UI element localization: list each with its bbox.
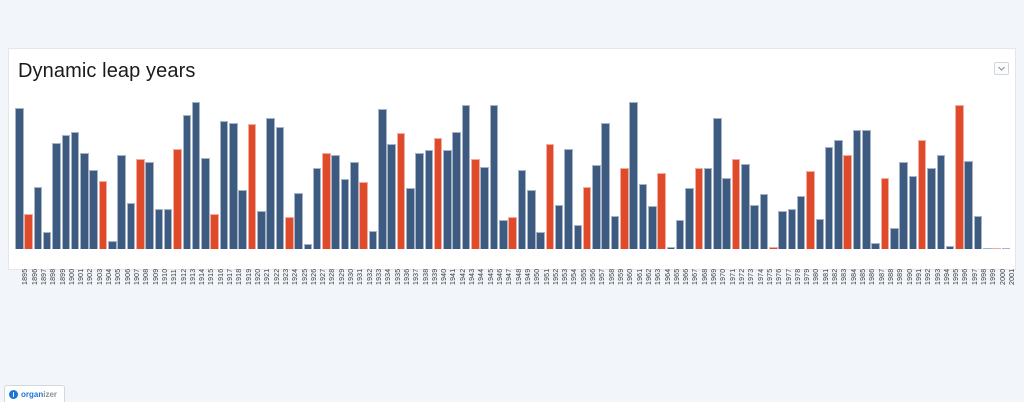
x-axis-label-1923: 1923 <box>283 269 290 285</box>
bar-1905[interactable] <box>108 241 117 249</box>
x-axis-label-1898: 1898 <box>50 269 57 285</box>
x-axis-label-1913: 1913 <box>190 269 197 285</box>
bar-1969[interactable] <box>704 168 713 249</box>
bar-1960[interactable] <box>620 168 629 249</box>
chevron-down-icon <box>998 66 1005 71</box>
x-axis-label-1921: 1921 <box>264 269 271 285</box>
bar-1921[interactable] <box>257 211 266 249</box>
x-axis-label-1985: 1985 <box>860 269 867 285</box>
x-axis-label-1957: 1957 <box>599 269 606 285</box>
x-axis-label-1905: 1905 <box>115 269 122 285</box>
x-axis-label-1922: 1922 <box>274 269 281 285</box>
x-axis-label-1902: 1902 <box>87 269 94 285</box>
x-axis-label-1926: 1926 <box>311 269 318 285</box>
x-axis-label-1981: 1981 <box>823 269 830 285</box>
x-axis-label-1934: 1934 <box>385 269 392 285</box>
x-axis-label-2000: 2000 <box>1000 269 1007 285</box>
bar-1974[interactable] <box>750 205 759 249</box>
bar-1944[interactable] <box>471 159 480 249</box>
bar-1931[interactable] <box>350 162 359 249</box>
bar-1996[interactable] <box>955 105 964 249</box>
bar-1926[interactable] <box>304 244 313 249</box>
x-axis-label-1960: 1960 <box>627 269 634 285</box>
page-title: Dynamic leap years <box>18 59 195 83</box>
bar-1958[interactable] <box>601 123 610 249</box>
bar-1917[interactable] <box>220 121 229 249</box>
x-axis-label-1919: 1919 <box>246 269 253 285</box>
x-axis-label-1895: 1895 <box>22 269 29 285</box>
x-axis-label-1999: 1999 <box>990 269 997 285</box>
bar-1964[interactable] <box>657 173 666 249</box>
bar-1984[interactable] <box>843 155 852 249</box>
x-axis-label-1930: 1930 <box>348 269 355 285</box>
x-axis-label-1983: 1983 <box>841 269 848 285</box>
x-axis-label-1979: 1979 <box>804 269 811 285</box>
bar-1946[interactable] <box>490 105 499 249</box>
organizer-badge-label-secondary: izer <box>43 390 57 399</box>
x-axis-label-1931: 1931 <box>357 269 364 285</box>
x-axis-label-1951: 1951 <box>544 269 551 285</box>
x-axis-label-1916: 1916 <box>218 269 225 285</box>
x-axis-label-1910: 1910 <box>162 269 169 285</box>
x-axis-label-1920: 1920 <box>255 269 262 285</box>
bar-1913[interactable] <box>183 115 192 249</box>
bar-1896[interactable] <box>24 214 33 249</box>
x-axis-label-1946: 1946 <box>497 269 504 285</box>
bar-1919[interactable] <box>238 190 247 249</box>
bar-1927[interactable] <box>313 168 322 249</box>
x-axis-label-1906: 1906 <box>125 269 132 285</box>
bar-1997[interactable] <box>964 161 973 249</box>
bar-1994[interactable] <box>937 155 946 249</box>
bar-1939[interactable] <box>425 150 434 249</box>
bar-1925[interactable] <box>294 193 303 249</box>
x-axis-label-1948: 1948 <box>516 269 523 285</box>
bar-1897[interactable] <box>34 187 43 249</box>
x-axis-label-1933: 1933 <box>376 269 383 285</box>
bar-1982[interactable] <box>825 147 834 249</box>
organizer-badge-label-primary: organ <box>21 390 43 399</box>
bar-1945[interactable] <box>480 167 489 249</box>
bar-1930[interactable] <box>341 179 350 249</box>
x-axis-label-1907: 1907 <box>134 269 141 285</box>
x-axis-label-1984: 1984 <box>851 269 858 285</box>
bar-1950[interactable] <box>527 190 536 249</box>
bar-1932[interactable] <box>359 182 368 249</box>
x-axis-label-1938: 1938 <box>423 269 430 285</box>
x-axis-label-1927: 1927 <box>320 269 327 285</box>
bar-1998[interactable] <box>974 216 983 249</box>
bar-1975[interactable] <box>760 194 769 249</box>
bar-1979[interactable] <box>797 196 806 249</box>
x-axis-label-1932: 1932 <box>367 269 374 285</box>
bar-1986[interactable] <box>862 130 871 249</box>
bar-1968[interactable] <box>695 168 704 249</box>
x-axis-label-1918: 1918 <box>236 269 243 285</box>
bar-1988[interactable] <box>881 178 890 249</box>
bar-1920[interactable] <box>248 124 257 249</box>
bar-1918[interactable] <box>229 123 238 249</box>
bar-1907[interactable] <box>127 203 136 249</box>
bar-1908[interactable] <box>136 159 145 249</box>
x-axis-label-1998: 1998 <box>981 269 988 285</box>
x-axis-label-1928: 1928 <box>329 269 336 285</box>
bar-1910[interactable] <box>155 209 164 249</box>
bar-1933[interactable] <box>369 231 378 249</box>
x-axis-label-1996: 1996 <box>962 269 969 285</box>
bar-1961[interactable] <box>629 102 638 249</box>
x-axis-label-1912: 1912 <box>181 269 188 285</box>
bar-1955[interactable] <box>574 225 583 249</box>
bar-1978[interactable] <box>788 209 797 249</box>
x-axis-label-1939: 1939 <box>432 269 439 285</box>
x-axis-label-1904: 1904 <box>106 269 113 285</box>
x-axis-label-1914: 1914 <box>199 269 206 285</box>
bar-1991[interactable] <box>909 176 918 249</box>
x-axis-label-1935: 1935 <box>395 269 402 285</box>
x-axis-label-2001: 2001 <box>1009 269 1016 285</box>
x-axis-label-1973: 1973 <box>748 269 755 285</box>
bar-1954[interactable] <box>564 149 573 249</box>
bar-1959[interactable] <box>611 216 620 249</box>
bar-1935[interactable] <box>387 144 396 249</box>
x-axis-label-1944: 1944 <box>478 269 485 285</box>
x-axis-label-1956: 1956 <box>590 269 597 285</box>
x-axis-label-1990: 1990 <box>907 269 914 285</box>
x-axis-label-1952: 1952 <box>553 269 560 285</box>
bar-1943[interactable] <box>462 105 471 249</box>
bar-1971[interactable] <box>722 178 731 249</box>
bar-1916[interactable] <box>210 214 219 249</box>
bar-1967[interactable] <box>685 188 694 249</box>
bar-1938[interactable] <box>415 153 424 249</box>
x-axis-label-1992: 1992 <box>925 269 932 285</box>
x-axis-label-1989: 1989 <box>897 269 904 285</box>
chart-menu-button[interactable] <box>994 62 1009 75</box>
bar-1903[interactable] <box>89 170 98 249</box>
bar-chart-plot: 1895189618971898189919001901190219031904… <box>9 97 1015 269</box>
x-axis-label-1975: 1975 <box>767 269 774 285</box>
bar-1900[interactable] <box>62 135 71 249</box>
bar-1898[interactable] <box>43 232 52 249</box>
x-axis-label-1970: 1970 <box>720 269 727 285</box>
bar-1977[interactable] <box>778 211 787 249</box>
bar-1993[interactable] <box>927 168 936 249</box>
bar-1992[interactable] <box>918 140 927 249</box>
bar-1952[interactable] <box>546 144 555 249</box>
bar-1980[interactable] <box>806 171 815 249</box>
x-axis-label-1953: 1953 <box>562 269 569 285</box>
bar-1914[interactable] <box>192 102 201 249</box>
x-axis-label-1997: 1997 <box>972 269 979 285</box>
x-axis-label-1963: 1963 <box>655 269 662 285</box>
bar-1985[interactable] <box>853 130 862 249</box>
bar-1924[interactable] <box>285 217 294 249</box>
x-axis-label-1987: 1987 <box>879 269 886 285</box>
bar-1973[interactable] <box>741 164 750 249</box>
bar-1912[interactable] <box>173 149 182 249</box>
x-axis-label-1925: 1925 <box>302 269 309 285</box>
x-axis-label-1908: 1908 <box>143 269 150 285</box>
x-axis-label-1903: 1903 <box>97 269 104 285</box>
x-axis-label-1917: 1917 <box>227 269 234 285</box>
x-axis-label-1962: 1962 <box>646 269 653 285</box>
x-axis-label-1994: 1994 <box>944 269 951 285</box>
info-circle-icon <box>9 390 18 399</box>
x-axis-label-1899: 1899 <box>60 269 67 285</box>
bar-1970[interactable] <box>713 118 722 249</box>
x-axis-label-1991: 1991 <box>916 269 923 285</box>
bar-1934[interactable] <box>378 109 387 249</box>
bar-1956[interactable] <box>583 187 592 249</box>
x-axis-label-1911: 1911 <box>171 269 178 285</box>
x-axis-label-1995: 1995 <box>953 269 960 285</box>
bar-1987[interactable] <box>871 243 880 249</box>
x-axis-label-1945: 1945 <box>488 269 495 285</box>
x-axis-label-1980: 1980 <box>813 269 820 285</box>
bar-1951[interactable] <box>536 232 545 249</box>
x-axis-label-1959: 1959 <box>618 269 625 285</box>
x-axis-label-1978: 1978 <box>795 269 802 285</box>
organizer-badge[interactable]: organizer <box>4 385 65 402</box>
x-axis-label-1950: 1950 <box>534 269 541 285</box>
x-axis-labels: 1895189618971898189919001901190219031904… <box>15 251 1011 291</box>
x-axis-label-1915: 1915 <box>208 269 215 285</box>
bar-1949[interactable] <box>518 170 527 249</box>
bar-1923[interactable] <box>276 127 285 249</box>
bar-1957[interactable] <box>592 165 601 249</box>
bar-1965[interactable] <box>667 247 676 249</box>
bar-1976[interactable] <box>769 247 778 249</box>
x-axis-label-1937: 1937 <box>413 269 420 285</box>
bar-1909[interactable] <box>145 162 154 249</box>
organizer-badge-label: organizer <box>21 390 57 399</box>
bar-1962[interactable] <box>639 184 648 249</box>
x-axis-label-1976: 1976 <box>776 269 783 285</box>
bar-1947[interactable] <box>499 220 508 249</box>
bar-1999[interactable] <box>983 248 992 249</box>
x-axis-label-1968: 1968 <box>702 269 709 285</box>
x-axis-label-1924: 1924 <box>292 269 299 285</box>
x-axis-label-1941: 1941 <box>450 269 457 285</box>
x-axis-label-1958: 1958 <box>609 269 616 285</box>
bar-1940[interactable] <box>434 138 443 249</box>
x-axis-label-1949: 1949 <box>525 269 532 285</box>
x-axis-label-1942: 1942 <box>460 269 467 285</box>
x-axis-label-1961: 1961 <box>637 269 644 285</box>
bar-2001[interactable] <box>1002 248 1011 249</box>
bar-1915[interactable] <box>201 158 210 249</box>
bar-1990[interactable] <box>899 162 908 249</box>
x-axis-label-1947: 1947 <box>506 269 513 285</box>
x-axis-label-1955: 1955 <box>581 269 588 285</box>
x-axis-label-1972: 1972 <box>739 269 746 285</box>
bar-1902[interactable] <box>80 153 89 249</box>
x-axis-label-1982: 1982 <box>832 269 839 285</box>
bar-1963[interactable] <box>648 206 657 249</box>
chart-card: Dynamic leap years 189518961897189818991… <box>8 48 1016 270</box>
bar-1953[interactable] <box>555 205 564 249</box>
x-axis-label-1986: 1986 <box>869 269 876 285</box>
page-root: Dynamic leap years 189518961897189818991… <box>0 0 1024 402</box>
bar-2000[interactable] <box>992 248 1001 249</box>
bar-1966[interactable] <box>676 220 685 249</box>
bar-1899[interactable] <box>52 143 61 249</box>
bar-1937[interactable] <box>406 188 415 249</box>
x-axis-label-1988: 1988 <box>888 269 895 285</box>
x-axis-label-1974: 1974 <box>758 269 765 285</box>
bar-1922[interactable] <box>266 118 275 249</box>
bar-1929[interactable] <box>331 155 340 249</box>
bar-1941[interactable] <box>443 150 452 249</box>
x-axis-label-1909: 1909 <box>153 269 160 285</box>
x-axis-label-1977: 1977 <box>786 269 793 285</box>
bar-series <box>15 97 1011 249</box>
bar-1928[interactable] <box>322 153 331 249</box>
x-axis-label-1900: 1900 <box>69 269 76 285</box>
bar-1895[interactable] <box>15 108 24 249</box>
bar-1989[interactable] <box>890 228 899 249</box>
bar-1995[interactable] <box>946 246 955 249</box>
x-axis-label-1971: 1971 <box>730 269 737 285</box>
x-axis-label-1969: 1969 <box>711 269 718 285</box>
x-axis-label-1896: 1896 <box>32 269 39 285</box>
x-axis-label-1954: 1954 <box>571 269 578 285</box>
bar-1983[interactable] <box>834 140 843 249</box>
x-axis-label-1943: 1943 <box>469 269 476 285</box>
bar-1981[interactable] <box>816 219 825 249</box>
x-axis-label-1940: 1940 <box>441 269 448 285</box>
bar-1901[interactable] <box>71 132 80 249</box>
x-axis-label-1897: 1897 <box>41 269 48 285</box>
x-axis-label-1936: 1936 <box>404 269 411 285</box>
x-axis-label-1967: 1967 <box>692 269 699 285</box>
x-axis-label-1901: 1901 <box>78 269 85 285</box>
x-axis-label-1964: 1964 <box>665 269 672 285</box>
bar-1904[interactable] <box>99 181 108 249</box>
bar-1906[interactable] <box>117 155 126 249</box>
x-axis-label-1965: 1965 <box>674 269 681 285</box>
x-axis-label-1966: 1966 <box>683 269 690 285</box>
bar-1972[interactable] <box>732 159 741 249</box>
bar-1942[interactable] <box>452 132 461 249</box>
bar-1936[interactable] <box>397 133 406 249</box>
bar-1948[interactable] <box>508 217 517 249</box>
x-axis-label-1929: 1929 <box>339 269 346 285</box>
x-axis-label-1993: 1993 <box>935 269 942 285</box>
bar-1911[interactable] <box>164 209 173 249</box>
